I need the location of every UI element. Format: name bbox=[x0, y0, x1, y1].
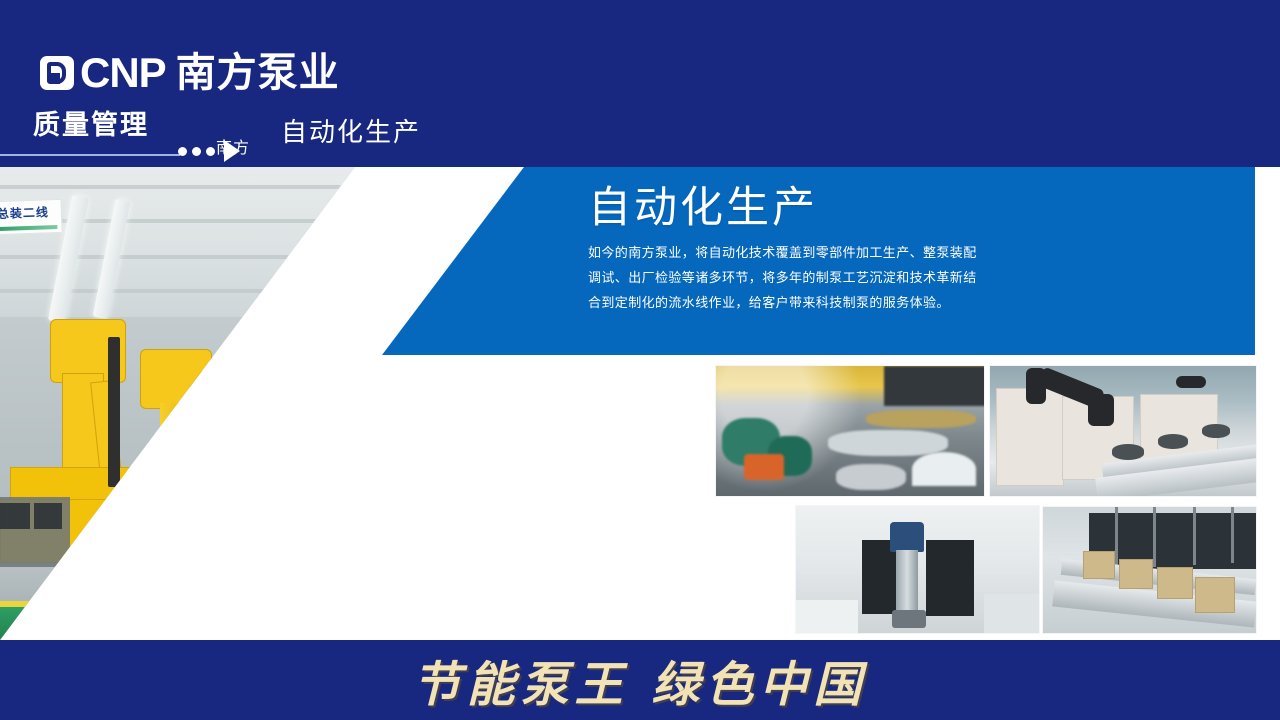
page-footer bbox=[0, 640, 1280, 720]
page-title: 质量管理 bbox=[33, 110, 149, 142]
page-header: CNP 南方泵业 质量管理 南方 自动化生产 bbox=[0, 0, 1280, 167]
thumbnail-2-photo bbox=[990, 366, 1256, 496]
line-sign-bar bbox=[0, 225, 57, 231]
brand-logo: CNP 南方泵业 bbox=[40, 50, 340, 96]
thumbnail-image[interactable] bbox=[990, 366, 1256, 496]
breadcrumb-rule bbox=[0, 154, 180, 156]
brand-logo-text: CNP bbox=[80, 52, 166, 94]
thumbnail-image[interactable] bbox=[716, 366, 984, 496]
line-sign: 总装二线 bbox=[0, 199, 63, 235]
cnp-logo-mark-icon bbox=[40, 56, 74, 90]
slide-root: CNP 南方泵业 质量管理 南方 自动化生产 bbox=[0, 0, 1280, 720]
line-sign-text: 总装二线 bbox=[0, 203, 49, 222]
breadcrumb-label[interactable]: 南方 bbox=[216, 134, 250, 158]
part-bin bbox=[0, 503, 30, 529]
floor-green-area bbox=[0, 607, 420, 640]
thumbnail-3-photo bbox=[796, 506, 1039, 633]
panel-paragraph-line: 如今的南方泵业，将自动化技术覆盖到零部件加工生产、整泵装配 bbox=[588, 241, 1008, 266]
dot-icon bbox=[192, 147, 201, 156]
light-tube bbox=[340, 187, 377, 305]
breadcrumb-current[interactable]: 自动化生产 bbox=[281, 112, 421, 149]
brand-name-cn: 南方泵业 bbox=[176, 52, 340, 94]
factory-floor bbox=[0, 565, 790, 640]
thumbnail-image[interactable] bbox=[1043, 507, 1256, 633]
thumbnail-1-photo bbox=[716, 366, 984, 496]
panel-title: 自动化生产 bbox=[588, 182, 818, 234]
panel-paragraph: 如今的南方泵业，将自动化技术覆盖到零部件加工生产、整泵装配 调试、出厂检验等诸多… bbox=[588, 241, 1008, 316]
floor-yellow-stripe bbox=[0, 601, 440, 608]
dot-icon bbox=[206, 147, 215, 156]
thumbnail-image[interactable] bbox=[796, 506, 1039, 633]
thumbnail-4-photo bbox=[1043, 507, 1256, 633]
content-stage: 总装二线 bbox=[0, 167, 1280, 640]
thumbnail-gallery bbox=[716, 366, 1256, 633]
shelf bbox=[200, 503, 380, 567]
shelf bbox=[430, 517, 580, 573]
panel-paragraph-line: 合到定制化的流水线作业，给客户带来科技制泵的服务体验。 bbox=[588, 291, 1008, 316]
panel-paragraph-line: 调试、出厂检验等诸多环节，将多年的制泵工艺沉淀和技术革新结 bbox=[588, 266, 1008, 291]
dot-icon bbox=[178, 147, 187, 156]
part-bin bbox=[34, 503, 62, 529]
